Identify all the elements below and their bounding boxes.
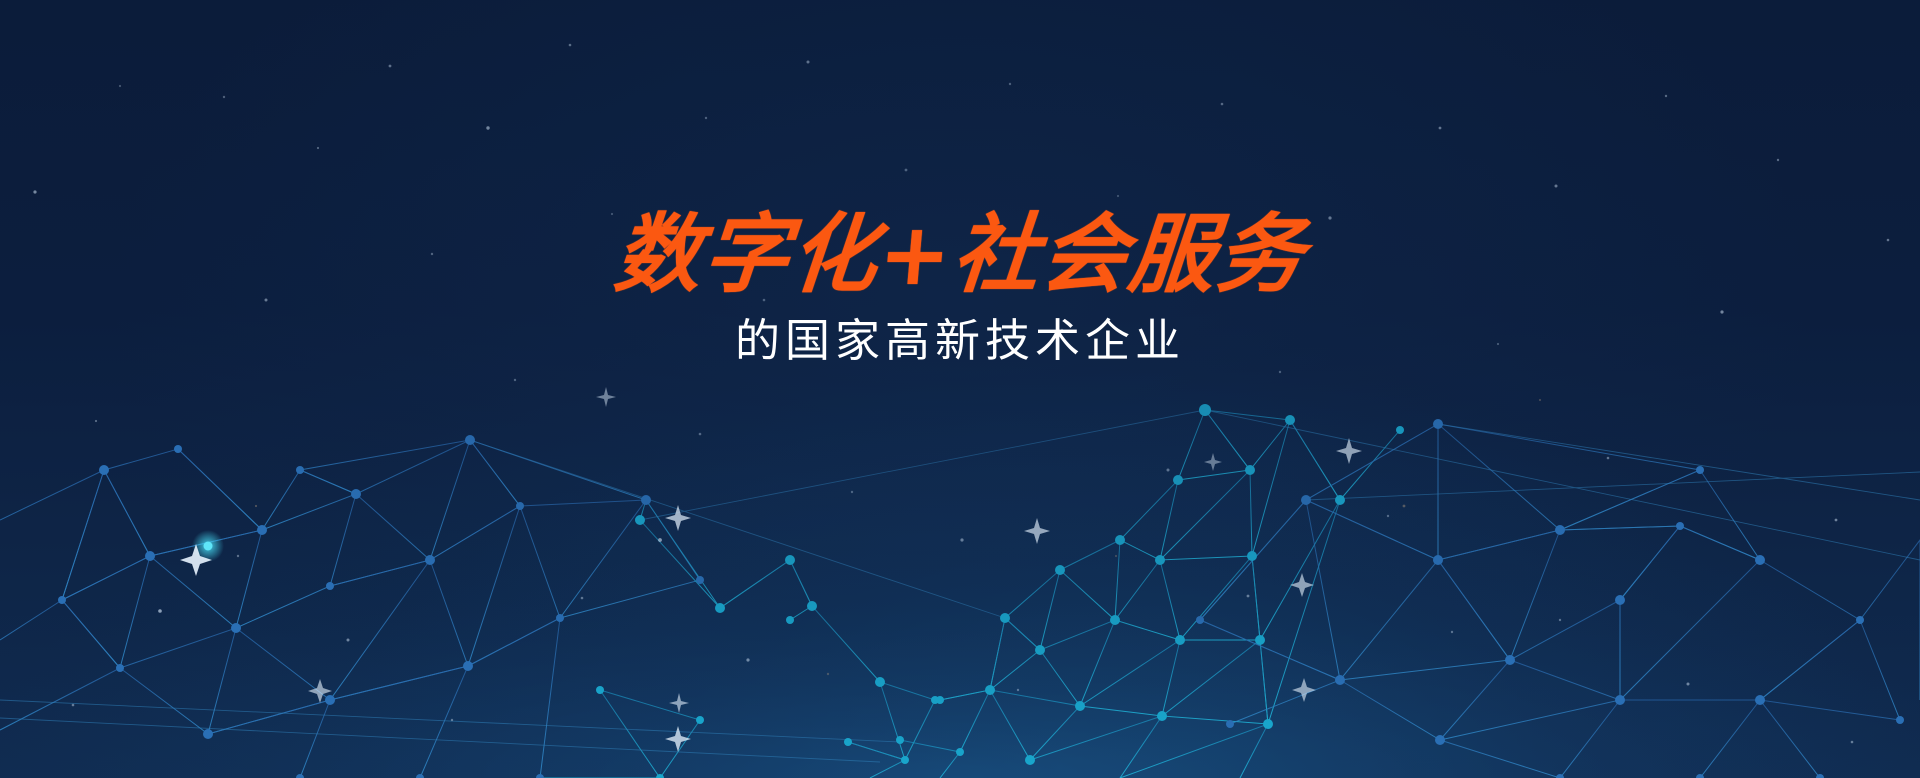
page-title: 数字化+社会服务 bbox=[0, 212, 1920, 298]
page-subtitle: 的国家高新技术企业 bbox=[0, 316, 1920, 366]
starfield-graphic bbox=[0, 0, 1920, 778]
hero-banner: 数字化+社会服务 的国家高新技术企业 bbox=[0, 0, 1920, 778]
hero-copy-block: 数字化+社会服务 的国家高新技术企业 bbox=[0, 212, 1920, 366]
sparkle-star bbox=[180, 387, 1362, 752]
